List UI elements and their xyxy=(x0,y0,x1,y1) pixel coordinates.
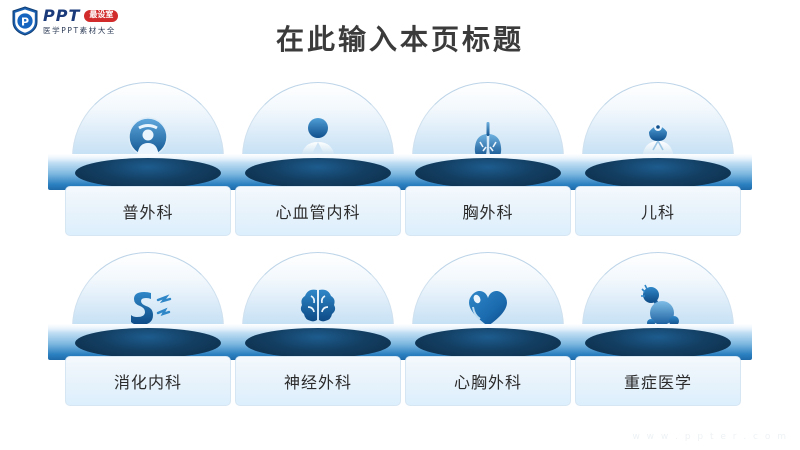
icon-lungs xyxy=(412,98,564,160)
pedestal-ellipse xyxy=(75,158,221,188)
category-card-pugeke[interactable]: 普外科 xyxy=(65,186,231,236)
icon-stomach xyxy=(72,268,224,330)
icon-doctor-headmirror xyxy=(582,98,734,160)
pedestal-ellipse xyxy=(245,158,391,188)
category-label: 神经外科 xyxy=(284,369,352,393)
page-title: 在此输入本页标题 xyxy=(0,18,800,58)
pedestal-ellipse xyxy=(75,328,221,358)
category-label: 消化内科 xyxy=(114,369,182,393)
category-label: 心胸外科 xyxy=(454,369,522,393)
pedestal-ellipse xyxy=(415,158,561,188)
category-card-zhongzheng[interactable]: 重症医学 xyxy=(575,356,741,406)
label-row-1: 普外科 心血管内科 胸外科 儿科 xyxy=(0,186,800,238)
pedestal-ellipse xyxy=(585,328,731,358)
pedestal-ellipse xyxy=(585,158,731,188)
category-card-xinxiong[interactable]: 心胸外科 xyxy=(405,356,571,406)
category-label: 儿科 xyxy=(641,199,675,223)
pedestal-ellipse xyxy=(415,328,561,358)
category-label: 重症医学 xyxy=(624,369,692,393)
category-card-xinxueguan[interactable]: 心血管内科 xyxy=(235,186,401,236)
icon-person-torso xyxy=(242,98,394,160)
category-label: 普外科 xyxy=(122,199,173,223)
category-card-xiaohua[interactable]: 消化内科 xyxy=(65,356,231,406)
category-card-shenjing[interactable]: 神经外科 xyxy=(235,356,401,406)
icon-molecule xyxy=(582,268,734,330)
site-watermark: w w w . p p t e r . c o m xyxy=(632,432,788,442)
label-row-2: 消化内科 神经外科 心胸外科 重症医学 xyxy=(0,356,800,408)
category-label: 胸外科 xyxy=(462,199,513,223)
icon-heart xyxy=(412,268,564,330)
category-label: 心血管内科 xyxy=(275,199,360,223)
icon-brain xyxy=(242,268,394,330)
category-card-erke[interactable]: 儿科 xyxy=(575,186,741,236)
category-card-xiongwaike[interactable]: 胸外科 xyxy=(405,186,571,236)
pedestal-ellipse xyxy=(245,328,391,358)
icon-surgeon-circle xyxy=(72,98,224,160)
